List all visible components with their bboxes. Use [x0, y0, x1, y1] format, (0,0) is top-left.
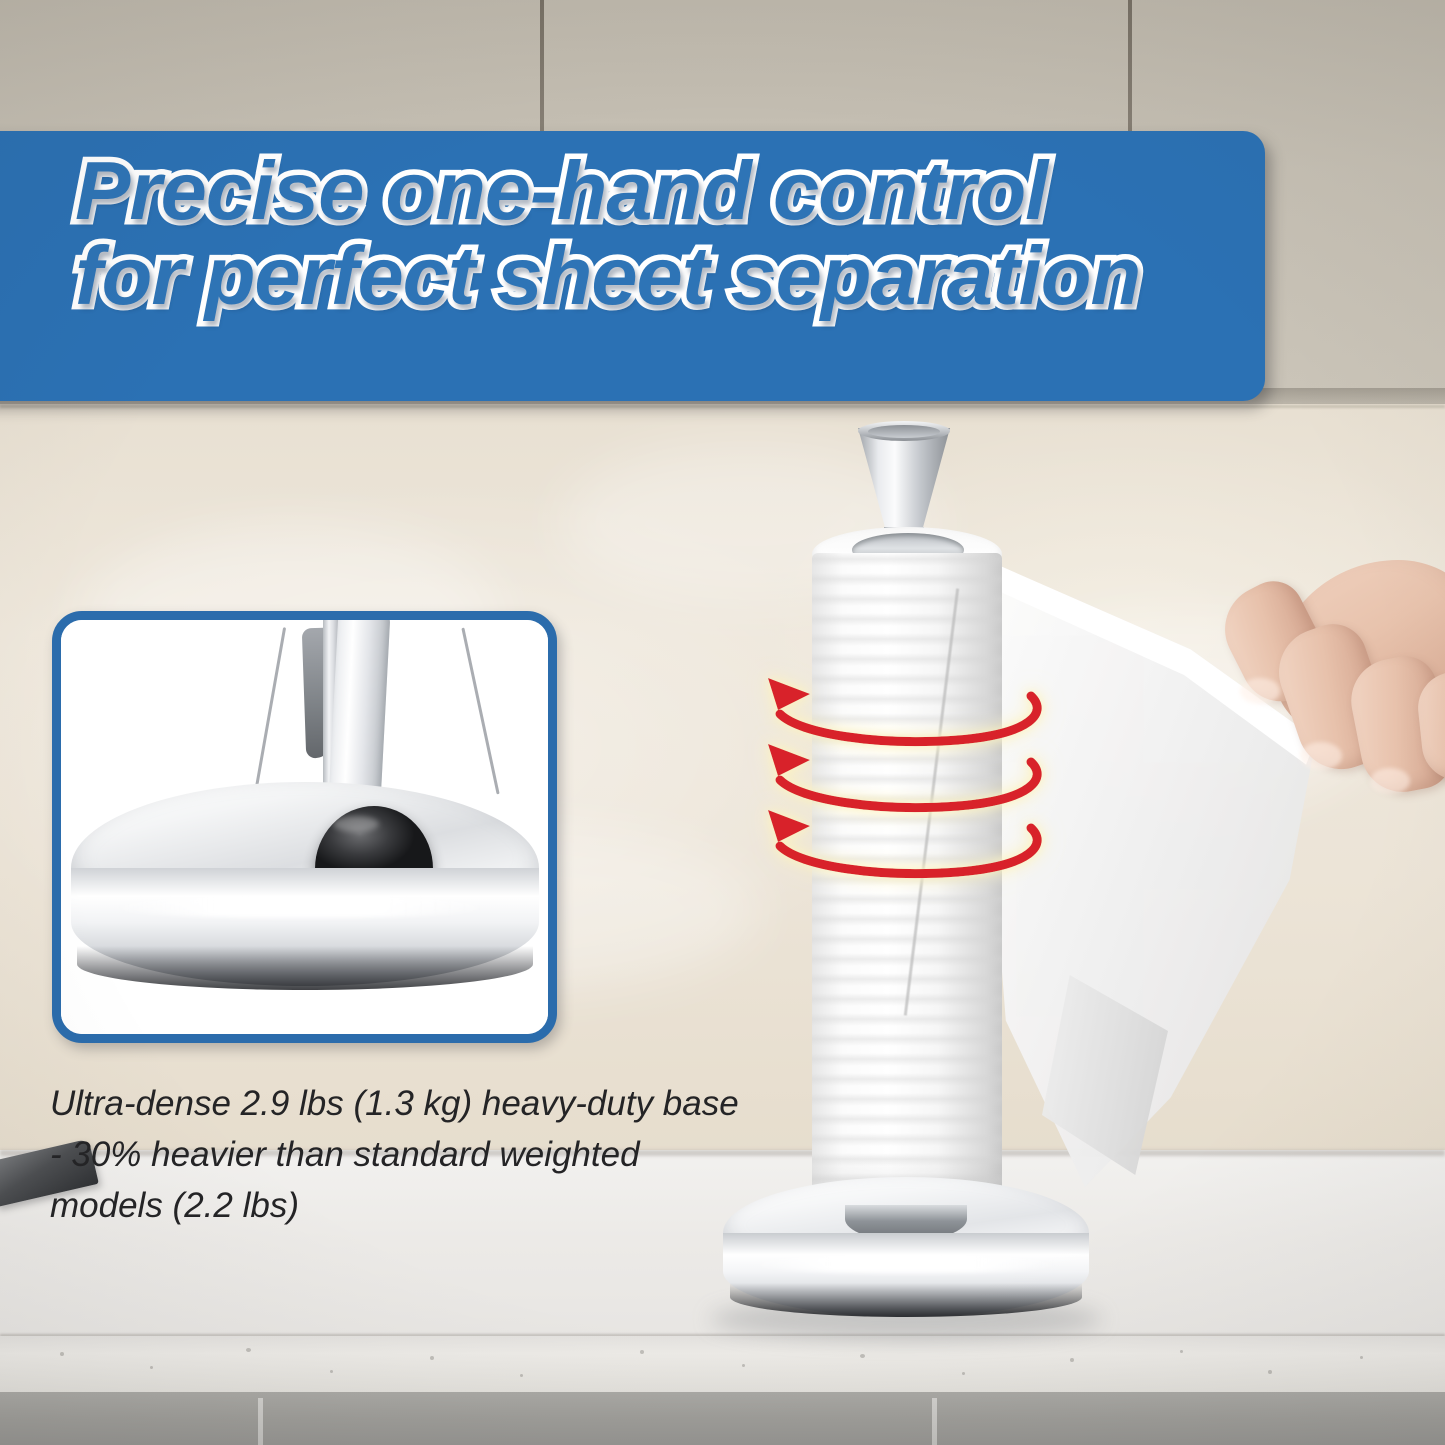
- lower-cabinet-seam-right: [932, 1398, 937, 1445]
- hand-pulling-sheet: [1180, 560, 1445, 900]
- ring-fingertip-highlight: [1370, 768, 1410, 794]
- product-marketing-image: Ultra-dense 2.9 lbs (1.3 kg) heavy-duty …: [0, 0, 1445, 1445]
- index-fingertip-highlight: [1240, 678, 1280, 704]
- headline-banner: Precise one-hand control for perfect she…: [0, 131, 1265, 401]
- finial-top-inner: [868, 425, 940, 438]
- lower-cabinets: [0, 1392, 1445, 1445]
- rotation-arrow-2: [768, 744, 1037, 808]
- headline-text: Precise one-hand control for perfect she…: [75, 149, 1235, 318]
- lower-cabinet-seam-left: [258, 1398, 263, 1445]
- rotation-arrows-group: [748, 672, 1064, 872]
- inset-base-highlight: [105, 896, 495, 918]
- inset-wire-right: [461, 628, 499, 795]
- inset-knob-highlight: [333, 816, 379, 832]
- middle-fingertip-highlight: [1300, 742, 1342, 770]
- inset-white-background: [61, 620, 548, 1034]
- wall-top-edge-line: [0, 405, 1445, 408]
- inset-detail-panel: [52, 611, 557, 1043]
- caption-text: Ultra-dense 2.9 lbs (1.3 kg) heavy-duty …: [50, 1078, 770, 1231]
- paper-towel-roll: [812, 553, 1002, 1233]
- inset-base-bottom-rim: [77, 946, 533, 990]
- base-specular-highlight: [748, 1255, 1064, 1273]
- rotation-arrow-3: [768, 810, 1037, 874]
- rotation-arrow-1: [768, 678, 1037, 742]
- finial-cone-icon: [858, 428, 950, 533]
